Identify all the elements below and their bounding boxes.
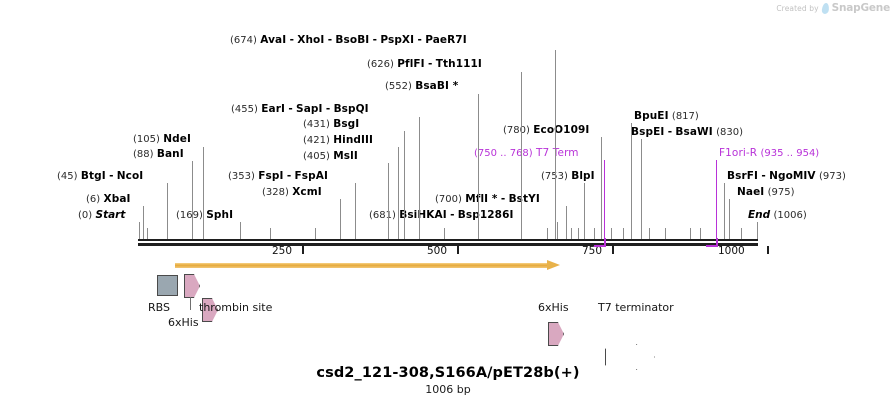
enzyme-position-45: (45) [57,171,78,182]
ruler-tick-500 [457,246,459,254]
feature-bracket-t7-term[interactable] [604,238,606,247]
enzyme-separator: - [328,34,332,46]
enzyme-label-431[interactable]: (431) BsgI [303,118,359,131]
enzyme-name-bsoBI: BsoBI [335,34,369,46]
enzyme-name-avaI: AvaI [260,34,286,46]
snapgene-logo-icon [821,3,829,14]
enzyme-name-bspEI: BspEI [631,126,664,138]
enzyme-position-353: (353) [228,171,255,182]
enzyme-position-105: (105) [133,134,160,145]
enzyme-label-973[interactable]: BsrFI - NgoMIV (973) [727,170,846,183]
enzyme-name-btgI: BtgI [81,170,106,182]
enzyme-name-bsiHKAI: BsiHKAI [399,209,447,221]
feature-position-f1ori-r: (935 .. 954) [761,148,820,159]
leader-line-973 [724,183,725,240]
feature-rbs[interactable] [157,275,178,296]
leader-line-975 [729,199,730,240]
enzyme-position-681: (681) [369,210,396,221]
feature-6xhis-left[interactable] [184,274,200,298]
enzyme-separator: - [417,34,421,46]
orf-arrow[interactable] [175,262,560,269]
leader-line-421 [398,147,399,240]
page-title: csd2_121-308,S166A/pET28b(+) [0,365,896,381]
enzyme-position-975: (975) [768,187,795,198]
enzyme-name-bsgI: BsgI [333,118,359,130]
enzyme-position-328: (328) [262,187,289,198]
leader-line-328 [340,199,341,240]
enzyme-name-ngoMIV: NgoMIV [769,170,816,182]
enzyme-label-105[interactable]: (105) NdeI [133,133,191,146]
leader-line-674 [555,50,556,240]
leader-line-552 [478,94,479,240]
enzyme-position-1006: (1006) [774,210,807,221]
enzyme-name-banI: BanI [157,148,184,160]
leader-line-780 [601,137,602,240]
enzyme-separator: - [287,170,291,182]
enzyme-name-pflFI: PflFI [397,58,424,70]
enzyme-label-353[interactable]: (353) FspI - FspAI [228,170,328,183]
sequence-backbone-top-strand[interactable] [138,239,758,241]
feature-6xhis-right[interactable] [548,322,564,346]
enzyme-name-ncoI: NcoI [117,170,144,182]
enzyme-position-817: (817) [672,111,699,122]
sequence-start-label: Start [96,209,126,221]
enzyme-name-earI: EarI [261,103,285,115]
leader-line-626 [521,72,522,240]
sequence-length-subtitle: 1006 bp [0,383,896,396]
leader-line-0-start [139,222,140,240]
enzyme-label-405[interactable]: (405) MslI [303,150,358,163]
enzyme-label-626[interactable]: (626) PflFI - Tth111I [367,58,482,71]
enzyme-label-169[interactable]: (169) SphI [176,209,233,222]
enzyme-label-674[interactable]: (674) AvaI - XhoI - BsoBI - PspXI - PaeR… [230,34,467,47]
enzyme-name-sphI: SphI [206,209,233,221]
enzyme-label-88[interactable]: (88) BanI [133,148,184,161]
enzyme-position-169: (169) [176,210,203,221]
enzyme-label-780[interactable]: (780) EcoO109I [503,124,589,137]
enzyme-position-674: (674) [230,35,257,46]
leader-line-830 [641,139,642,240]
enzyme-name-tth111I: Tth111I [436,58,482,70]
feature-label-6xhis-right: 6xHis [538,301,569,314]
feature-leader-6xhis-left [190,297,191,310]
enzyme-position-6: (6) [86,194,100,205]
leader-line-f1ori-r [716,160,717,240]
leader-line-681 [557,222,558,240]
enzyme-position-830: (830) [716,127,743,138]
enzyme-label-328[interactable]: (328) XcmI [262,186,322,199]
ruler-tick-250 [302,246,304,254]
enzyme-separator: - [373,34,377,46]
feature-label-thrombin-site: thrombin site [199,301,272,314]
enzyme-position-405: (405) [303,151,330,162]
feature-label-6xhis-left: 6xHis [168,316,199,329]
enzyme-name-ndeI: NdeI [163,133,191,145]
enzyme-name-hindIII: HindIII [333,134,373,146]
enzyme-name-naeI: NaeI [737,186,764,198]
snapgene-watermark: Created by SnapGene [776,2,890,14]
leader-line-88 [192,161,193,240]
enzyme-name-paeR7I: PaeR7I [425,34,467,46]
enzyme-position-0: (0) [78,210,92,221]
ruler-label-250: 250 [272,245,292,257]
feature-bracket-f1ori-r[interactable] [716,238,718,247]
enzyme-label-45[interactable]: (45) BtgI - NcoI [57,170,143,183]
feature-name-f1ori-r: F1ori-R [719,147,757,159]
enzyme-separator: - [501,193,505,205]
feature-position-t7-term: (750 .. 768) [474,148,533,159]
leader-line-45 [167,183,168,240]
enzyme-label-681[interactable]: (681) BsiHKAI - Bsp1286I [369,209,514,222]
enzyme-name-pspXI: PspXI [380,34,414,46]
enzyme-label-6[interactable]: (6) XbaI [86,193,131,206]
enzyme-position-455: (455) [231,104,258,115]
enzyme-name-mflI: MflI * [465,193,497,205]
enzyme-name-sapI: SapI [296,103,322,115]
enzyme-name-bsaBI: BsaBI * [415,80,458,92]
enzyme-separator: - [290,34,294,46]
enzyme-position-421: (421) [303,135,330,146]
enzyme-name-blpI: BlpI [571,170,594,182]
enzyme-label-1006-end[interactable]: End (1006) [748,209,807,222]
enzyme-label-817[interactable]: BpuEI (817) [634,110,699,123]
enzyme-name-bsrFI: BsrFI [727,170,758,182]
enzyme-label-975[interactable]: NaeI (975) [737,186,795,199]
leader-line-105 [203,147,204,240]
enzyme-name-bspQI: BspQI [334,103,369,115]
enzyme-separator: - [109,170,113,182]
enzyme-name-xbaI: XbaI [104,193,131,205]
feature-name-t7-term: T7 Term [536,147,579,159]
enzyme-separator: - [668,126,672,138]
enzyme-name-xhoI: XhoI [297,34,324,46]
watermark-brand: SnapGene [832,2,890,14]
enzyme-name-mslI: MslI [333,150,358,162]
leader-line-700 [566,206,567,240]
enzyme-label-552[interactable]: (552) BsaBI * [385,80,458,93]
enzyme-position-700: (700) [435,194,462,205]
enzyme-label-421[interactable]: (421) HindIII [303,134,373,147]
leader-line-169 [240,222,241,240]
leader-line-753 [584,183,585,240]
feature-label-t7-term[interactable]: (750 .. 768) T7 Term [474,147,579,160]
enzyme-position-626: (626) [367,59,394,70]
enzyme-name-fspI: FspI [258,170,283,182]
leader-line-431 [404,131,405,240]
plasmid-map-canvas: Created by SnapGene (674) AvaI - XhoI - … [0,0,896,405]
enzyme-name-bsaWI: BsaWI [675,126,712,138]
ruler-tick-1000 [767,246,769,254]
enzyme-separator: - [288,103,292,115]
enzyme-name-bstYI: BstYI [509,193,540,205]
feature-label-f1ori-r[interactable]: F1ori-R (935 .. 954) [719,147,819,160]
leader-line-353 [355,183,356,240]
orf-arrow-body [175,263,547,268]
enzyme-position-431: (431) [303,119,330,130]
enzyme-separator: - [428,58,432,70]
enzyme-position-780: (780) [503,125,530,136]
enzyme-position-973: (973) [819,171,846,182]
feature-label-t7-terminator: T7 terminator [598,301,674,314]
enzyme-name-xcmI: XcmI [292,186,322,198]
sequence-end-label: End [748,209,770,221]
ruler-label-500: 500 [427,245,447,257]
enzyme-separator: - [761,170,765,182]
leader-line-t7-term [604,160,605,240]
feature-label-rbs: RBS [148,301,170,314]
orf-arrow-head [547,260,560,270]
ruler-tick-750 [612,246,614,254]
enzyme-label-455[interactable]: (455) EarI - SapI - BspQI [231,103,369,116]
ruler-label-1000: 1000 [718,245,745,257]
enzyme-name-fspAI: FspAI [295,170,328,182]
enzyme-label-0-start[interactable]: (0) Start [78,209,125,222]
sequence-backbone-bottom-strand[interactable] [138,243,758,246]
enzyme-separator: - [450,209,454,221]
enzyme-label-753[interactable]: (753) BlpI [541,170,595,183]
enzyme-name-bsp1286I: Bsp1286I [458,209,514,221]
enzyme-name-bpuEI: BpuEI [634,110,669,122]
leader-line-1006-end [757,222,758,240]
enzyme-position-552: (552) [385,81,412,92]
leader-line-817 [631,123,632,240]
leader-line-455 [419,117,420,240]
leader-line-405 [388,163,389,240]
enzyme-name-ecoO109I: EcoO109I [533,124,589,136]
enzyme-label-830[interactable]: BspEI - BsaWI (830) [631,126,743,139]
enzyme-label-700[interactable]: (700) MflI * - BstYI [435,193,540,206]
enzyme-position-88: (88) [133,149,154,160]
watermark-prefix: Created by [776,4,818,13]
leader-line-6 [143,206,144,240]
enzyme-separator: - [326,103,330,115]
